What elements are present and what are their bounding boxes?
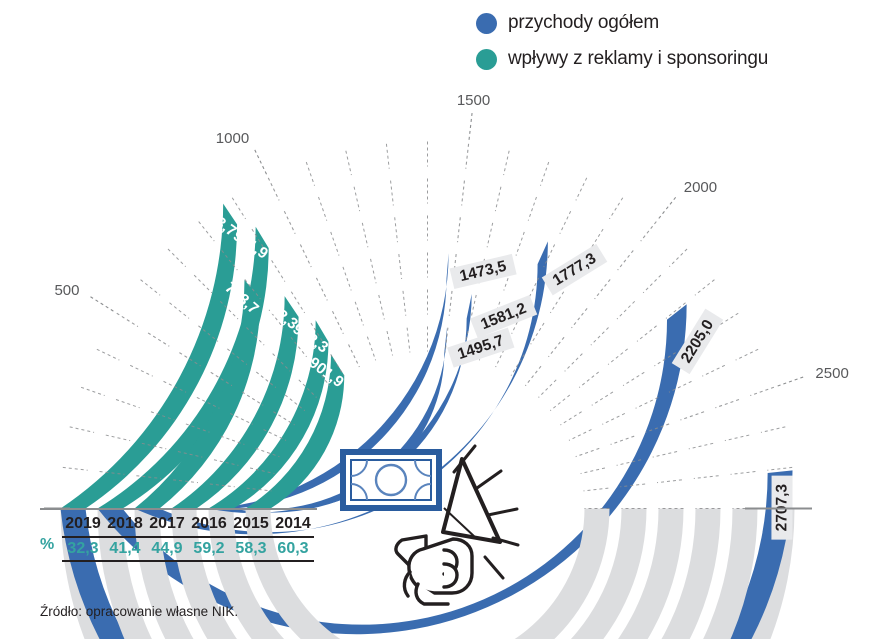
axis-minor-tick xyxy=(371,259,377,283)
axis-minor-tick xyxy=(516,232,524,256)
axis-minor-tick xyxy=(306,162,314,186)
axis-minor-tick xyxy=(637,326,657,342)
axis-minor-tick xyxy=(761,427,785,433)
axis-minor-tick xyxy=(641,222,657,242)
axis-minor-tick xyxy=(595,279,611,299)
megaphone-with-banknote-icon xyxy=(343,446,518,604)
axis-minor-tick xyxy=(736,349,759,360)
axis-minor-tick xyxy=(609,198,622,219)
axis-minor-tick xyxy=(539,380,557,398)
axis-tick-leader xyxy=(778,376,806,386)
table-percent-cell: 60,3 xyxy=(272,536,314,562)
axis-tick-label-2000: 2000 xyxy=(684,179,717,196)
axis-minor-tick xyxy=(540,162,548,186)
axis-minor-tick xyxy=(81,387,105,395)
axis-minor-tick xyxy=(617,301,635,319)
axis-minor-tick xyxy=(548,337,564,357)
percent-sign-label: % xyxy=(40,536,62,562)
axis-minor-tick xyxy=(300,245,311,268)
axis-minor-tick xyxy=(106,435,130,441)
axis-minor-tick xyxy=(581,468,605,474)
axis-minor-tick xyxy=(332,311,343,334)
axis-minor-tick xyxy=(591,327,609,345)
table-year-row: 201920182017201620152014 xyxy=(40,508,314,536)
axis-minor-tick xyxy=(362,223,368,247)
axis-minor-tick xyxy=(653,452,677,458)
source-note: Źródło: opracowanie własne NIK. xyxy=(40,604,238,619)
ring-ads-2019 xyxy=(61,204,238,509)
axis-minor-tick xyxy=(495,187,501,211)
axis-minor-tick xyxy=(576,178,587,201)
axis-minor-tick xyxy=(387,331,393,355)
axis-minor-tick xyxy=(608,349,628,365)
axis-minor-tick xyxy=(731,472,756,475)
axis-minor-tick xyxy=(702,365,725,376)
axis-minor-tick xyxy=(560,211,571,234)
axis-minor-tick xyxy=(487,223,493,247)
axis-minor-tick xyxy=(232,198,245,219)
axis-tick-leader xyxy=(254,147,267,174)
axis-minor-tick xyxy=(130,365,153,376)
axis-minor-tick xyxy=(168,249,186,267)
axis-minor-tick xyxy=(669,249,687,267)
table-percent-cell: 44,9 xyxy=(146,536,188,562)
axis-minor-tick xyxy=(602,413,625,424)
table-baseline xyxy=(40,508,317,510)
axis-minor-tick xyxy=(623,372,644,385)
table-percent-cell: 58,3 xyxy=(230,536,272,562)
axis-minor-tick xyxy=(695,280,715,296)
table-year-cell: 2016 xyxy=(188,508,230,536)
total-value-label-2019: 2707,3 xyxy=(773,484,790,532)
axis-minor-tick xyxy=(715,400,739,408)
axis-minor-tick xyxy=(449,291,452,316)
axis-minor-tick xyxy=(560,412,581,425)
table-percent-row: % 32,341,444,959,258,360,3 xyxy=(40,536,314,562)
axis-minor-tick xyxy=(592,392,613,405)
axis-minor-tick xyxy=(316,278,327,301)
axis-minor-tick xyxy=(194,275,212,293)
axis-tick-label-1500: 1500 xyxy=(457,92,490,109)
axis-minor-tick xyxy=(367,337,375,361)
axis-minor-tick xyxy=(272,260,285,281)
axis-minor-tick xyxy=(579,372,599,388)
axis-minor-tick xyxy=(343,267,351,291)
axis-minor-tick xyxy=(403,291,406,316)
axis-minor-tick xyxy=(268,178,279,201)
axis-minor-tick xyxy=(550,395,570,411)
axis-minor-tick xyxy=(141,280,161,296)
axis-tick-label-2500: 2500 xyxy=(815,365,848,382)
table-year-cell: 2015 xyxy=(230,508,272,536)
axis-minor-tick xyxy=(169,303,189,319)
total-value-label-2015: 1581,2 xyxy=(478,300,528,333)
axis-minor-tick xyxy=(657,480,682,483)
axis-minor-tick xyxy=(346,151,352,175)
table-percent-cell: 32,3 xyxy=(62,536,104,562)
axis-minor-tick xyxy=(116,400,140,408)
axis-minor-tick xyxy=(504,151,510,175)
axis-minor-tick xyxy=(528,197,536,221)
table-percent-cell: 41,4 xyxy=(104,536,146,562)
table-percent-cell: 59,2 xyxy=(188,536,230,562)
axis-tick-leader xyxy=(659,195,678,218)
axis-minor-tick xyxy=(550,292,563,313)
axis-minor-tick xyxy=(395,217,398,242)
axis-minor-tick xyxy=(331,232,339,256)
axis-minor-tick xyxy=(689,443,713,449)
megaphone-cone-icon xyxy=(443,459,500,542)
table-year-cell: 2019 xyxy=(62,508,104,536)
axis-minor-tick xyxy=(572,308,588,328)
axis-tick-label-500: 500 xyxy=(54,282,79,299)
ads-value-label-2019: 873,7 xyxy=(198,204,239,241)
axis-minor-tick xyxy=(399,254,402,279)
axis-minor-tick xyxy=(643,275,661,293)
axis-minor-tick xyxy=(565,354,583,372)
axis-minor-tick xyxy=(349,345,360,368)
axis-minor-tick xyxy=(462,181,465,206)
axis-tick-label-1000: 1000 xyxy=(216,130,249,147)
axis-minor-tick xyxy=(576,448,600,456)
axis-minor-tick xyxy=(319,197,327,221)
axis-tick-leader xyxy=(88,295,113,311)
axis-minor-tick xyxy=(284,211,295,234)
axis-minor-tick xyxy=(694,476,719,479)
axis-minor-tick xyxy=(391,181,394,206)
chart-page: przychody ogółem wpływy z reklamy i spon… xyxy=(0,0,874,639)
axis-minor-tick xyxy=(70,427,94,433)
axis-minor-tick xyxy=(354,187,360,211)
table-year-cell: 2018 xyxy=(104,508,146,536)
axis-minor-tick xyxy=(117,313,138,326)
axis-minor-tick xyxy=(97,349,120,360)
hand-icon xyxy=(396,536,472,604)
axis-minor-tick xyxy=(242,392,263,405)
axis-minor-tick xyxy=(569,430,592,441)
axis-minor-tick xyxy=(379,295,385,319)
axis-minor-tick xyxy=(407,328,410,353)
axis-minor-tick xyxy=(386,144,389,169)
axis-minor-tick xyxy=(525,366,541,386)
axis-minor-tick xyxy=(611,436,635,444)
axis-minor-tick xyxy=(767,467,792,470)
table-year-cell: 2017 xyxy=(146,508,188,536)
axis-minor-tick xyxy=(584,488,609,491)
years-percent-table: 201920182017201620152014 % 32,341,444,95… xyxy=(40,508,314,562)
axis-minor-tick xyxy=(618,250,634,270)
axis-minor-tick xyxy=(750,387,774,395)
axis-minor-tick xyxy=(355,302,363,326)
axis-tick-leader xyxy=(469,110,472,140)
axis-minor-tick xyxy=(725,435,749,441)
axis-minor-tick xyxy=(680,412,704,420)
axis-minor-tick xyxy=(148,333,169,346)
axis-minor-tick xyxy=(63,467,88,470)
axis-minor-tick xyxy=(466,144,469,169)
table-year-cell: 2014 xyxy=(272,508,314,536)
axis-minor-tick xyxy=(458,217,461,242)
